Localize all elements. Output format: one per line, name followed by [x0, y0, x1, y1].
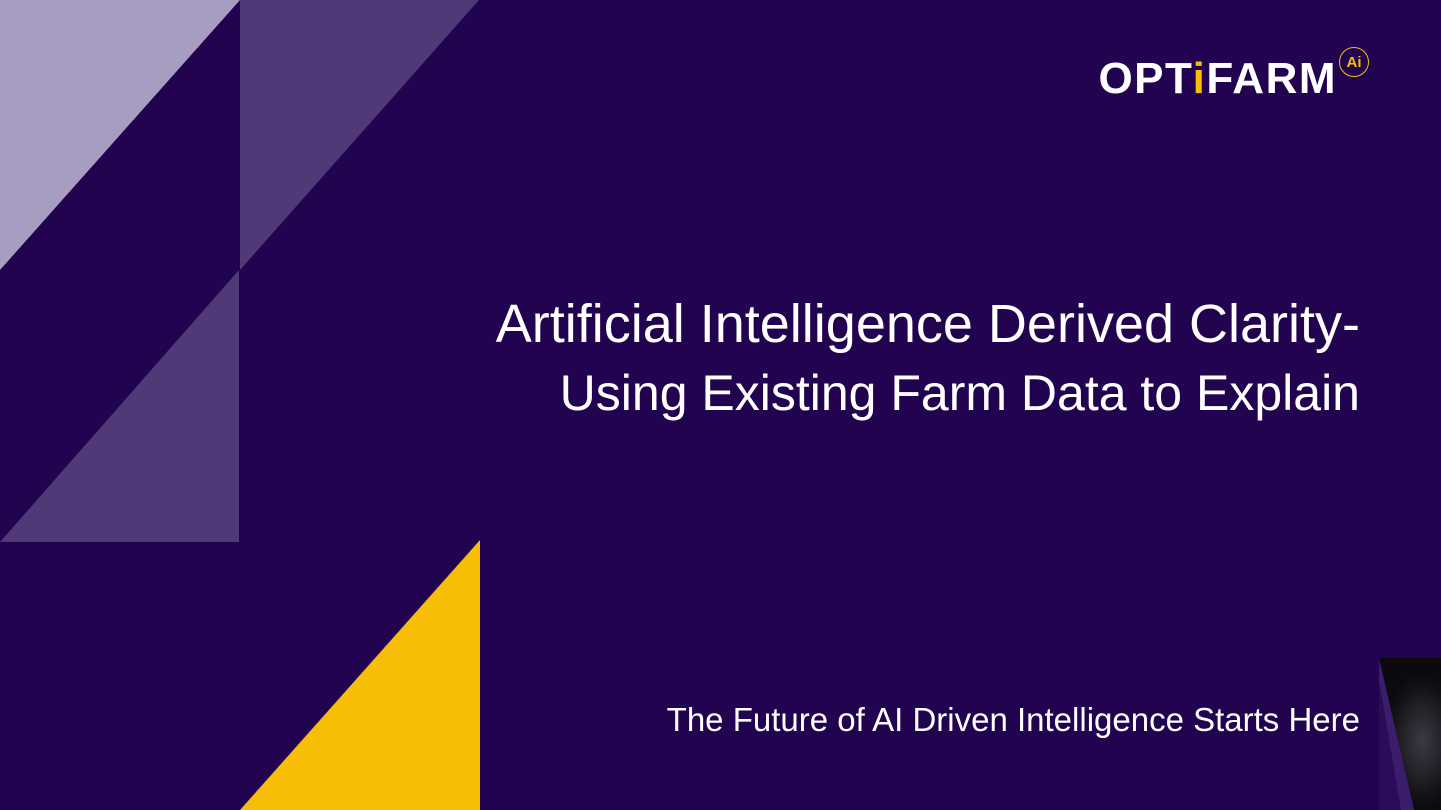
ai-badge-icon: Ai [1339, 47, 1369, 77]
logo-wordmark: OPTiFARM [1098, 55, 1337, 103]
decorative-corner-wedge-inner [1379, 680, 1401, 810]
logo-wordmark-part-1: OPT [1098, 54, 1192, 103]
decorative-corner-wedge [1379, 658, 1414, 810]
decorative-triangle-purple-top [240, 0, 479, 270]
decorative-dark-corner [1379, 658, 1441, 810]
slide-title-block: Artificial Intelligence Derived Clarity-… [380, 288, 1360, 426]
logo-wordmark-part-2: FARM [1206, 54, 1337, 103]
slide-title-line-1: Artificial Intelligence Derived Clarity- [380, 288, 1360, 360]
presentation-slide: OPTiFARM Ai Artificial Intelligence Deri… [0, 0, 1441, 810]
decorative-triangle-purple-mid [0, 270, 239, 542]
decorative-triangle-yellow [240, 540, 480, 810]
logo-wordmark-i: i [1193, 54, 1207, 103]
slide-tagline: The Future of AI Driven Intelligence Sta… [400, 698, 1360, 742]
slide-title-line-2: Using Existing Farm Data to Explain [380, 360, 1360, 426]
decorative-triangle-lavender [0, 0, 240, 270]
optifarm-logo: OPTiFARM Ai [1098, 55, 1369, 103]
